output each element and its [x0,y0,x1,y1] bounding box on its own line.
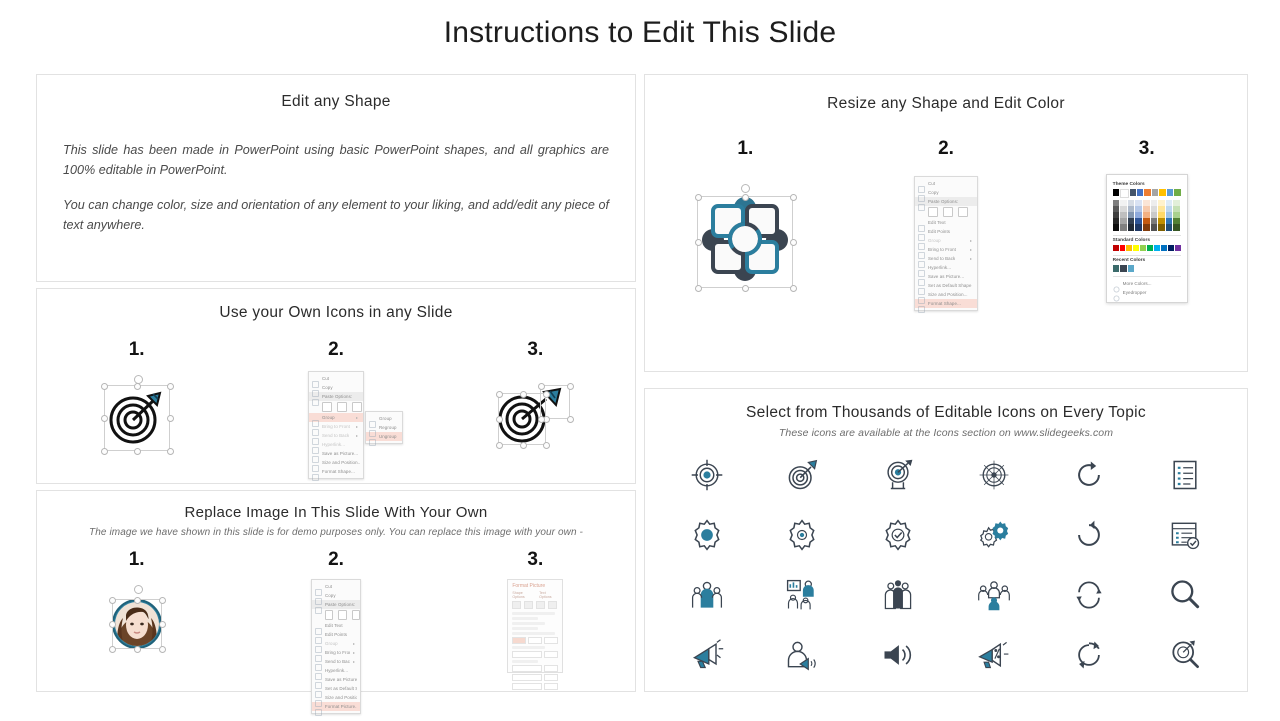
menu-item-icon [315,658,322,665]
color-swatch[interactable] [1175,245,1181,252]
format-pane-field[interactable] [512,683,558,690]
menu-item-label: Group [379,416,392,421]
checklist-document-icon [1167,457,1203,498]
context-menu-item[interactable]: Size and Position... [312,693,360,702]
context-menu-item[interactable]: Copy [312,591,360,600]
format-pane-row [512,612,554,615]
resize-handle[interactable] [695,239,702,246]
format-pane-field[interactable] [512,674,558,681]
menu-item-icon [312,468,319,475]
menu-item-icon [312,450,319,457]
context-menu-item[interactable]: Set as Default Shape [312,684,360,693]
context-menu-item[interactable]: Save as Picture... [309,449,363,458]
icon-library-grid [645,455,1247,679]
menu-item-label: Edit Points [325,632,347,637]
context-menu-item[interactable]: Save as Picture... [915,272,977,281]
step-number: 3. [1139,139,1155,158]
icon-cell[interactable] [755,635,851,679]
ungrouped-target-icon-art[interactable] [496,379,574,453]
color-swatch[interactable] [1126,245,1132,252]
magnifier-icon [1167,577,1203,618]
color-swatch[interactable] [1144,189,1150,196]
paste-text-only-icon[interactable] [958,207,968,217]
panel-use-own-icons: Use your Own Icons in any Slide 1. [36,288,636,484]
color-swatch[interactable] [1158,224,1165,230]
chevron-right-icon: ▸ [356,433,360,438]
menu-item-label: Set as Default Shape [928,283,972,288]
panel-icon-library-subtitle: These icons are available at the Icons s… [645,427,1247,439]
resize-handle[interactable] [167,448,174,455]
gear-solid-icon [689,517,725,558]
color-swatch[interactable] [1174,189,1180,196]
menu-item-icon [918,189,925,196]
context-menu-item[interactable]: Paste Options: [309,392,363,401]
context-menu-shape[interactable]: CutCopyPaste Options:Group▸Bring to Fron… [308,371,364,479]
context-menu-item[interactable]: Send to Back▸ [312,657,360,666]
theme-tints-row[interactable] [1113,200,1181,231]
context-menu-item[interactable]: Bring to Front▸ [309,422,363,431]
color-palette-popup[interactable]: Theme ColorsStandard ColorsRecent Colors… [1106,174,1188,303]
icon-cell[interactable] [850,635,946,679]
chevron-right-icon: ▸ [970,238,974,243]
icon-cell[interactable] [946,635,1042,679]
megaphone-percent-icon [976,637,1012,678]
step-number: 1. [129,550,145,569]
chevron-right-icon: ▸ [353,641,357,646]
resize-handle[interactable] [167,383,174,390]
menu-item-icon [918,180,925,187]
step-number: 1. [737,139,753,158]
menu-item-label: Cut [325,584,332,589]
panel-icon-library-title: Select from Thousands of Editable Icons … [645,404,1247,422]
context-menu-item[interactable]: Bring to Front▸ [915,245,977,254]
target-dart-icon [784,457,820,498]
fill-icon[interactable] [512,601,521,609]
menu-item-icon [312,393,319,400]
context-menu-item[interactable]: Paste Options: [312,600,360,609]
format-pane-field[interactable] [512,637,558,644]
format-pane-row [512,627,537,630]
context-menu-ungroup-art[interactable]: CutCopyPaste Options:Group▸Bring to Fron… [308,371,364,479]
format-pane-title: Format Picture [512,583,558,589]
menu-item-label: Set as Default Shape [325,686,357,691]
more-colors-option[interactable]: More Colors... [1113,279,1181,288]
menu-item-label: Ungroup [379,434,397,439]
menu-item-icon [312,384,319,391]
menu-item-label: Edit Points [928,229,950,234]
context-menu-item[interactable]: Copy [915,188,977,197]
menu-item-label: Copy [322,385,333,390]
color-swatch[interactable] [1159,189,1165,196]
resize-handle[interactable] [134,597,141,604]
color-swatch[interactable] [1113,245,1119,252]
eyedropper-icon [1113,289,1120,296]
context-menu-item[interactable]: Format Picture... [312,702,360,711]
color-swatch[interactable] [1137,189,1143,196]
paste-keep-formatting-icon[interactable] [928,207,938,217]
menu-item-icon [315,703,322,710]
context-menu-item[interactable]: Send to Back▸ [915,254,977,263]
size-icon[interactable] [536,601,545,609]
icon-cell[interactable] [1042,515,1138,559]
color-swatch[interactable] [1151,224,1158,230]
tab-text-options[interactable]: Text Options [539,591,558,599]
recent-colors-row[interactable] [1113,265,1181,272]
menu-item-icon [312,423,319,430]
menu-item-label: Group [928,238,941,243]
context-menu-item[interactable]: Set as Default Shape [915,281,977,290]
menu-item-icon [918,219,925,226]
format-pane-icon-row[interactable] [512,601,558,609]
tint-column[interactable] [1113,200,1120,231]
menu-item-label: Paste Options: [928,199,958,204]
context-menu-item[interactable]: Regroup [366,423,402,432]
menu-item-label: Edit Text [325,623,343,628]
menu-item-label: Copy [325,593,336,598]
chevron-right-icon: ▸ [970,256,974,261]
paste-picture-icon[interactable] [337,402,347,412]
menu-item-icon [369,415,376,422]
context-menu-item[interactable]: Hyperlink... [309,440,363,449]
menu-item-label: Format Shape... [928,301,961,306]
menu-item-icon [315,592,322,599]
menu-item-label: Cut [928,181,935,186]
own-icons-step-3: 3. [436,340,635,479]
menu-item-label: Send to Back [928,256,955,261]
context-menu-item[interactable]: Size and Position... [309,458,363,467]
recent-colors-label: Recent Colors [1113,258,1181,263]
resize-shape-step-1: 1. [645,139,846,311]
chevron-right-icon: ▸ [970,247,974,252]
icon-cell[interactable] [1137,455,1233,499]
icon-cell[interactable] [755,515,851,559]
menu-item-label: Group [325,641,338,646]
menu-item-icon [312,432,319,439]
sync-arrows-icon [1071,577,1107,618]
icon-cell[interactable] [1042,575,1138,619]
icon-cell[interactable] [1137,515,1233,559]
paste-picture-icon[interactable] [338,610,346,620]
step-number: 2. [328,340,344,359]
menu-item-icon [918,237,925,244]
icon-cell[interactable] [850,455,946,499]
color-palette-popup-art[interactable]: Theme ColorsStandard ColorsRecent Colors… [1106,174,1188,303]
menu-item-label: Format Picture... [325,704,357,709]
context-menu-item[interactable]: Cut [312,582,360,591]
context-menu-format-picture-art[interactable]: CutCopyPaste Options:Edit TextEdit Point… [311,579,361,714]
color-swatch[interactable] [1120,224,1127,230]
context-menu-item[interactable]: Save as Picture... [312,675,360,684]
gear-check-icon [880,517,916,558]
team-network-icon [976,577,1012,618]
effects-icon[interactable] [524,601,533,609]
resize-handle[interactable] [134,383,141,390]
step-number: 2. [938,139,954,158]
menu-item-icon [918,291,925,298]
icon-cell[interactable] [1137,575,1233,619]
menu-item-label: Cut [322,376,329,381]
menu-item-label: Bring to Front [322,424,350,429]
color-swatch[interactable] [1113,265,1120,272]
color-swatch[interactable] [1168,245,1174,252]
crowd-people-icon [880,577,916,618]
context-menu-format-shape-art[interactable]: CutCopyPaste Options:Edit TextEdit Point… [914,176,978,311]
icon-cell[interactable] [1042,635,1138,679]
context-menu-item[interactable]: Cut [309,374,363,383]
color-swatch[interactable] [1128,224,1135,230]
panel-replace-image: Replace Image In This Slide With Your Ow… [36,490,636,692]
menu-item-icon [369,424,376,431]
panel-edit-any-shape-title: Edit any Shape [37,93,635,111]
menu-item-label: Send to Back [322,433,349,438]
format-pane-tabs[interactable]: Shape Options Text Options [512,591,558,599]
menu-item-label: Bring to Front [325,650,350,655]
context-menu-item[interactable]: Group [366,414,402,423]
panel-replace-image-title: Replace Image In This Slide With Your Ow… [37,504,635,521]
resize-handle[interactable] [543,391,550,398]
context-menu-item[interactable]: Hyperlink... [312,666,360,675]
team-group-icon [689,577,725,618]
icon-cell[interactable] [755,575,851,619]
menu-item-label: Size and Position... [322,460,360,465]
tint-column[interactable] [1173,200,1180,231]
context-menu-item[interactable]: Group▸ [312,639,360,648]
menu-item-icon [312,441,319,448]
selected-flower-shape-art[interactable] [693,184,797,288]
crosshair-target-icon [689,457,725,498]
theme-colors-row[interactable] [1113,189,1181,198]
color-swatch[interactable] [1120,265,1127,272]
menu-item-icon [918,198,925,205]
format-pane-field[interactable] [512,665,558,672]
own-icons-step-2: 2. CutCopyPaste Options:Group▸Bring to F… [236,340,435,479]
resize-handle[interactable] [101,448,108,455]
resize-handle[interactable] [790,285,797,292]
context-menu-item[interactable]: Edit Text [915,218,977,227]
tint-column[interactable] [1166,200,1173,231]
palette-separator [1113,255,1181,256]
rotate-handle[interactable] [134,585,143,594]
menu-item-icon [918,264,925,271]
color-swatch[interactable] [1135,224,1142,230]
format-pane-row [512,646,545,649]
theme-colors-label: Theme Colors [1113,182,1181,187]
context-menu-item[interactable]: Paste Options: [915,197,977,206]
resize-handle[interactable] [496,391,503,398]
icon-cell[interactable] [1042,455,1138,499]
menu-item-label: Save as Picture... [322,451,358,456]
context-menu-item[interactable]: Format Shape... [309,467,363,476]
tint-column[interactable] [1135,200,1142,231]
context-menu-item[interactable]: Group▸ [309,413,363,422]
resize-handle[interactable] [567,383,574,390]
megaphone-icon [689,637,725,678]
target-stand-icon [880,457,916,498]
step-number: 1. [129,340,145,359]
selected-portrait-image-art[interactable] [106,585,168,657]
context-menu-item[interactable]: Ungroup [366,432,402,441]
format-pane-row [512,632,554,635]
context-menu-item[interactable]: Format Shape... [915,299,977,308]
menu-item-label: Hyperlink... [325,668,348,673]
context-menu-item[interactable]: Send to Back▸ [309,431,363,440]
color-swatch[interactable] [1173,224,1180,230]
paste-keep-formatting-icon[interactable] [325,610,333,620]
color-swatch[interactable] [1152,189,1158,196]
menu-item-icon [918,300,925,307]
resize-handle[interactable] [695,194,702,201]
icon-cell[interactable] [659,575,755,619]
color-swatch[interactable] [1130,189,1136,196]
step-number: 2. [328,550,344,569]
color-swatch[interactable] [1166,224,1173,230]
radar-target-icon [976,457,1012,498]
format-picture-pane-art[interactable]: Format Picture Shape Options Text Option… [507,579,563,673]
color-swatch[interactable] [1147,245,1153,252]
color-swatch[interactable] [1154,245,1160,252]
color-swatch[interactable] [1133,245,1139,252]
menu-item-icon [315,631,322,638]
context-menu-item[interactable]: Edit Text [312,621,360,630]
context-menu-item[interactable]: Hyperlink... [915,263,977,272]
menu-item-label: Send to Back [325,659,350,664]
resize-handle[interactable] [742,285,749,292]
menu-item-icon [315,601,322,608]
edit-shape-paragraph-1: This slide has been made in PowerPoint u… [63,141,609,180]
menu-item-icon [315,685,322,692]
icon-cell[interactable] [850,575,946,619]
tab-shape-options[interactable]: Shape Options [512,591,535,599]
refresh-cycle-icon [1071,637,1107,678]
standard-colors-row[interactable] [1113,245,1181,252]
paste-text-only-icon[interactable] [352,402,362,412]
resize-handle[interactable] [101,383,108,390]
color-swatch[interactable] [1113,224,1120,230]
menu-item-label: Paste Options: [322,394,352,399]
menu-item-label: Regroup [379,425,397,430]
group-submenu[interactable]: GroupRegroupUngroup [365,411,403,444]
menu-item-icon [918,228,925,235]
icon-cell[interactable] [850,515,946,559]
context-menu-item[interactable]: Group▸ [915,236,977,245]
chevron-right-icon: ▸ [356,424,360,429]
context-menu-item[interactable]: Edit Points [915,227,977,236]
selected-target-icon-art[interactable] [100,379,174,453]
palette-icon [1113,280,1120,287]
resize-shape-step-3: 3. Theme ColorsStandard ColorsRecent Col… [1046,139,1247,311]
menu-item-icon [315,649,322,656]
resize-handle[interactable] [742,194,749,201]
icon-cell[interactable] [946,515,1042,559]
tint-column[interactable] [1120,200,1127,231]
color-swatch[interactable] [1128,265,1135,272]
icon-cell[interactable] [755,455,851,499]
menu-item-icon [315,667,322,674]
context-menu-item[interactable]: Edit Points [312,630,360,639]
step-number: 3. [527,550,543,569]
icon-cell[interactable] [659,455,755,499]
color-swatch[interactable] [1167,189,1173,196]
menu-item-label: Save as Picture... [928,274,964,279]
step-number: 3. [527,340,543,359]
eyedropper-option[interactable]: Eyedropper [1113,288,1181,297]
tint-column[interactable] [1128,200,1135,231]
document-approved-icon [1167,517,1203,558]
menu-item-icon [315,694,322,701]
format-pane-field[interactable] [512,651,558,658]
resize-handle[interactable] [167,415,174,422]
icon-cell[interactable] [1137,635,1233,679]
color-swatch[interactable] [1161,245,1167,252]
menu-item-icon [312,375,319,382]
color-swatch[interactable] [1120,189,1128,198]
icon-cell[interactable] [659,635,755,679]
slide-canvas: Instructions to Edit This Slide Edit any… [0,0,1280,720]
menu-item-label: Copy [928,190,939,195]
paste-picture-icon[interactable] [943,207,953,217]
replace-image-step-2: 2. CutCopyPaste Options:Edit TextEdit Po… [236,550,435,714]
context-menu-item[interactable]: Bring to Front▸ [312,648,360,657]
context-menu-item[interactable]: Size and Position... [915,290,977,299]
resize-handle[interactable] [134,448,141,455]
panel-icon-library: Select from Thousands of Editable Icons … [644,388,1248,692]
menu-item-label: Group [322,415,335,420]
gear-dot-icon [784,517,820,558]
context-menu-picture[interactable]: CutCopyPaste Options:Edit TextEdit Point… [311,579,361,714]
menu-item-icon [918,273,925,280]
tint-column[interactable] [1158,200,1165,231]
refresh-circle-icon [1071,517,1107,558]
picture-icon[interactable] [548,601,557,609]
icon-cell[interactable] [946,455,1042,499]
resize-handle[interactable] [538,383,545,390]
color-swatch[interactable] [1120,245,1126,252]
color-swatch[interactable] [1113,189,1119,196]
context-menu-item[interactable]: Copy [309,383,363,392]
format-pane-row [512,617,537,620]
tint-column[interactable] [1143,200,1150,231]
resize-handle[interactable] [790,194,797,201]
context-menu-shape[interactable]: CutCopyPaste Options:Edit TextEdit Point… [914,176,978,311]
color-swatch[interactable] [1143,224,1150,230]
resize-shape-step-2: 2. CutCopyPaste Options:Edit TextEdit Po… [846,139,1047,311]
menu-item-icon [369,433,376,440]
palette-separator [1113,276,1181,277]
menu-item-icon [315,676,322,683]
icon-cell[interactable] [659,515,755,559]
magnifier-target-icon [1167,637,1203,678]
icon-cell[interactable] [946,575,1042,619]
double-gear-icon [976,517,1012,558]
panel-edit-any-shape: Edit any Shape This slide has been made … [36,74,636,282]
resize-handle[interactable] [520,391,527,398]
panel-resize-shape-title: Resize any Shape and Edit Color [645,95,1247,113]
option-label: More Colors... [1123,281,1152,286]
tint-column[interactable] [1151,200,1158,231]
menu-item-icon [315,640,322,647]
resize-handle[interactable] [695,285,702,292]
context-menu-item[interactable]: Cut [915,179,977,188]
paste-keep-formatting-icon[interactable] [322,402,332,412]
paste-text-only-icon[interactable] [352,610,360,620]
resize-handle[interactable] [109,597,116,604]
format-picture-pane[interactable]: Format Picture Shape Options Text Option… [507,579,563,673]
resize-handle[interactable] [159,597,166,604]
panel-use-own-icons-title: Use your Own Icons in any Slide [37,304,635,322]
page-title: Instructions to Edit This Slide [0,16,1280,50]
menu-item-icon [315,583,322,590]
color-swatch[interactable] [1140,245,1146,252]
